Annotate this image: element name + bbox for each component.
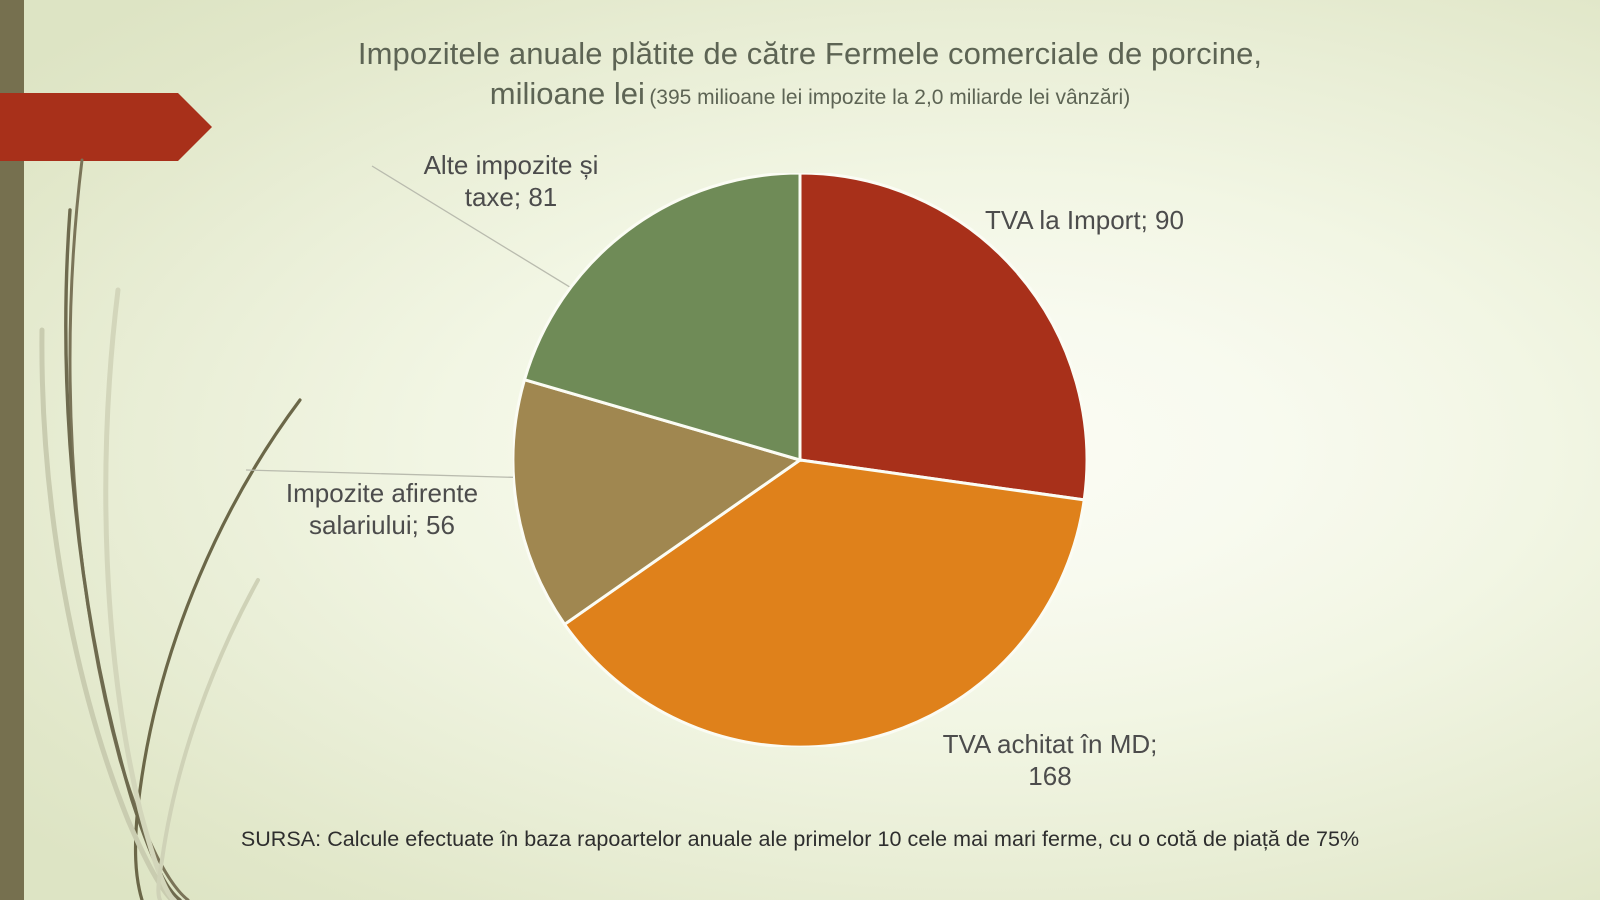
pie-chart: Alte impozite și taxe; 81 TVA la Import;…	[0, 0, 1600, 900]
slide: Impozitele anuale plătite de către Ferme…	[0, 0, 1600, 900]
pie-slices	[513, 173, 1087, 747]
pie-label-impozite-salariu: Impozite afirente salariului; 56	[242, 478, 522, 541]
source-note: SURSA: Calcule efectuate în baza rapoart…	[0, 827, 1600, 852]
pie-label-tva-import: TVA la Import; 90	[985, 205, 1275, 237]
pie-label-tva-achitat-md: TVA achitat în MD; 168	[890, 729, 1210, 792]
pie-label-alte-impozite: Alte impozite și taxe; 81	[378, 150, 644, 213]
